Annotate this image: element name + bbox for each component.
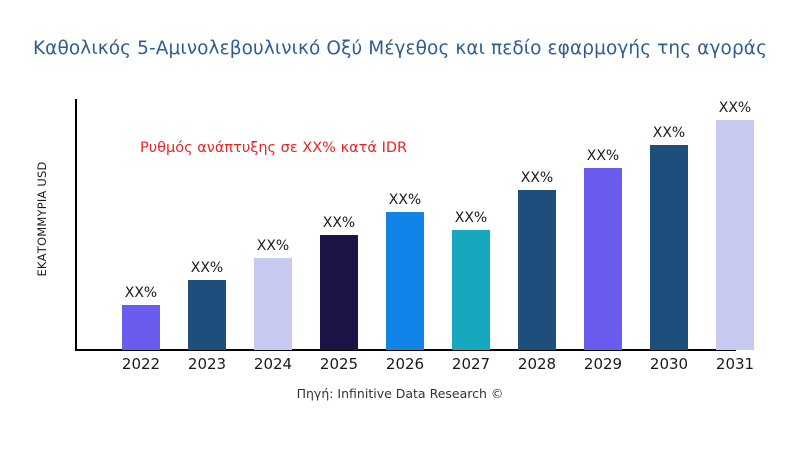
- bar-group: XX%: [636, 99, 702, 350]
- bar-group: XX%: [438, 99, 504, 350]
- bar-group: XX%: [174, 99, 240, 350]
- source-note: Πηγή: Infinitive Data Research ©: [0, 386, 800, 401]
- bar[interactable]: [254, 258, 292, 350]
- bar[interactable]: [122, 305, 160, 350]
- bar-group: XX%: [372, 99, 438, 350]
- bar-group: XX%: [570, 99, 636, 350]
- bar-value-label: XX%: [636, 125, 702, 141]
- bar[interactable]: [452, 230, 490, 350]
- bar-value-label: XX%: [306, 215, 372, 231]
- bar-value-label: XX%: [438, 210, 504, 226]
- x-tick-label-2022: 2022: [108, 355, 174, 373]
- bar-group: XX%: [306, 99, 372, 350]
- bar-value-label: XX%: [174, 260, 240, 276]
- chart-container: Καθολικός 5-Αμινολεβουλινικό Οξύ Μέγεθος…: [0, 0, 800, 450]
- x-tick-label-2029: 2029: [570, 355, 636, 373]
- bar-group: XX%: [504, 99, 570, 350]
- bar-value-label: XX%: [372, 192, 438, 208]
- x-tick-label-2025: 2025: [306, 355, 372, 373]
- plot-area: XX%XX%XX%XX%XX%XX%XX%XX%XX%XX%: [75, 99, 800, 350]
- x-tick-label-2023: 2023: [174, 355, 240, 373]
- bar-value-label: XX%: [570, 148, 636, 164]
- bar-group: XX%: [702, 99, 768, 350]
- bar-value-label: XX%: [240, 238, 306, 254]
- x-tick-label-2028: 2028: [504, 355, 570, 373]
- bar-group: XX%: [108, 99, 174, 350]
- bar[interactable]: [320, 235, 358, 350]
- bar[interactable]: [518, 190, 556, 350]
- x-axis-tick-labels: 2022202320242025202620272028202920302031: [75, 355, 800, 381]
- bar[interactable]: [650, 145, 688, 350]
- y-axis-label: ΕΚΑΤΟΜΜΥΡΙΑ USD: [35, 89, 49, 349]
- bar[interactable]: [584, 168, 622, 350]
- chart-title: Καθολικός 5-Αμινολεβουλινικό Οξύ Μέγεθος…: [0, 38, 800, 59]
- x-tick-label-2031: 2031: [702, 355, 768, 373]
- bar[interactable]: [386, 212, 424, 350]
- x-tick-label-2026: 2026: [372, 355, 438, 373]
- bar-value-label: XX%: [504, 170, 570, 186]
- bar[interactable]: [716, 120, 754, 350]
- bar[interactable]: [188, 280, 226, 350]
- bar-value-label: XX%: [702, 100, 768, 116]
- bar-value-label: XX%: [108, 285, 174, 301]
- x-tick-label-2027: 2027: [438, 355, 504, 373]
- x-tick-label-2030: 2030: [636, 355, 702, 373]
- bar-group: XX%: [240, 99, 306, 350]
- growth-rate-annotation: Ρυθμός ανάπτυξης σε XX% κατά IDR: [140, 140, 407, 156]
- x-tick-label-2024: 2024: [240, 355, 306, 373]
